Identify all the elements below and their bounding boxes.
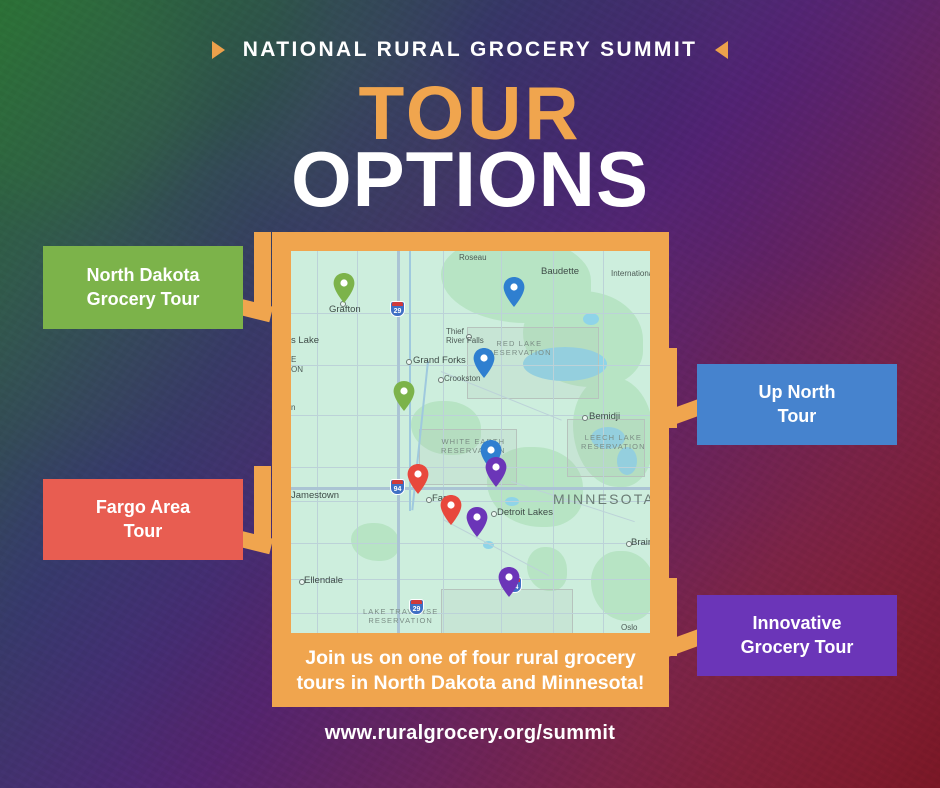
tour-label-fargo-area[interactable]: Fargo Area Tour — [43, 479, 243, 560]
map-label-jamestown: Jamestown — [291, 490, 339, 501]
map-pin-up-north-tour[interactable] — [503, 277, 525, 307]
map-pin-innovative-grocery-tour[interactable] — [466, 507, 488, 537]
map-label-leech-lake-reservation: LEECH LAKERESERVATION — [581, 433, 646, 451]
map-label-brainerd: Brainerd — [631, 537, 650, 548]
map-label-partial-left-c: n — [291, 403, 295, 412]
tour-label-innovative-text: Innovative Grocery Tour — [741, 612, 854, 660]
map-pin-up-north-tour[interactable] — [473, 348, 495, 378]
map-label-lake-traverse-reservation: LAKE TRAVERSERESERVATION — [363, 607, 438, 625]
triangle-left-icon — [715, 41, 728, 59]
map-label-grafton: Grafton — [329, 304, 361, 315]
map-label-devils-lake: s Lake — [291, 335, 319, 346]
map-label-detroit-lakes: Detroit Lakes — [497, 507, 553, 518]
map-city-dot — [406, 359, 412, 365]
caption-line1: Join us on one of four rural grocery — [305, 647, 635, 669]
tour-label-up-north[interactable]: Up North Tour — [697, 364, 897, 445]
tour-label-north-dakota-text: North Dakota Grocery Tour — [86, 264, 199, 312]
tour-label-line1: Innovative — [752, 613, 841, 633]
highway-shield-i94: 94 — [390, 479, 405, 495]
map-road — [291, 613, 650, 614]
map-label-oslo: Oslo — [621, 623, 637, 632]
website-url[interactable]: www.ruralgrocery.org/summit — [0, 722, 940, 745]
map-label-red-lake-reservation: RED LAKERESERVATION — [487, 339, 552, 357]
map-label-partial-left-b: ON — [291, 365, 303, 374]
map-label-bemidji: Bemidji — [589, 411, 620, 422]
tour-label-line1: North Dakota — [86, 265, 199, 285]
map-road — [291, 467, 650, 468]
map-label-state-minnesota: MINNESOTA — [553, 491, 650, 507]
map-label-ellendale: Ellendale — [304, 575, 343, 586]
eyebrow-banner: NATIONAL RURAL GROCERY SUMMIT — [0, 38, 940, 62]
tour-label-up-north-text: Up North Tour — [759, 381, 836, 429]
eyebrow-label: NATIONAL RURAL GROCERY SUMMIT — [243, 38, 698, 62]
tour-label-fargo-area-text: Fargo Area Tour — [96, 496, 190, 544]
map-pin-innovative-grocery-tour[interactable] — [498, 567, 520, 597]
triangle-right-icon — [212, 41, 225, 59]
map-road — [291, 543, 650, 544]
highway-shield-i29: 29 — [409, 599, 424, 615]
tour-label-line1: Fargo Area — [96, 497, 190, 517]
poster: NATIONAL RURAL GROCERY SUMMIT TOUR OPTIO… — [0, 0, 940, 788]
map-label-roseau: Roseau — [459, 253, 487, 262]
map-road — [553, 251, 554, 633]
caption-line2: tours in North Dakota and Minnesota! — [297, 672, 645, 694]
map-city-dot — [582, 415, 588, 421]
map-pin-north-dakota-tour[interactable] — [393, 381, 415, 411]
tour-label-line2: Tour — [124, 521, 163, 541]
tour-label-line2: Grocery Tour — [741, 637, 854, 657]
map-pin-north-dakota-tour[interactable] — [333, 273, 355, 303]
map-lake — [583, 313, 599, 325]
map-card-caption: Join us on one of four rural grocery tou… — [291, 646, 650, 696]
connector-left-upper-vertical — [254, 232, 271, 312]
tour-label-line2: Tour — [778, 406, 817, 426]
map-card: Grafton Grand Forks Crookston ThiefRiver… — [272, 232, 669, 707]
map-pin-innovative-grocery-tour[interactable] — [485, 457, 507, 487]
map-pin-fargo-area-tour[interactable] — [407, 464, 429, 494]
map-road — [291, 365, 650, 366]
tour-label-line2: Grocery Tour — [87, 289, 200, 309]
tour-label-north-dakota[interactable]: North Dakota Grocery Tour — [43, 246, 243, 329]
map-road — [291, 579, 650, 580]
map-label-grand-forks: Grand Forks — [413, 355, 466, 366]
map-label-baudette: Baudette — [541, 266, 579, 277]
tour-label-line1: Up North — [759, 382, 836, 402]
highway-shield-i29: 29 — [390, 301, 405, 317]
page-title-line2: OPTIONS — [0, 140, 940, 218]
connector-left-lower-vertical — [254, 466, 271, 544]
tour-label-innovative[interactable]: Innovative Grocery Tour — [697, 595, 897, 676]
map-label-partial-left-a: E — [291, 355, 296, 364]
map-label-international: International — [611, 269, 650, 278]
map-interstate-94 — [291, 487, 650, 490]
map-pin-fargo-area-tour[interactable] — [440, 495, 462, 525]
tour-map[interactable]: Grafton Grand Forks Crookston ThiefRiver… — [291, 251, 650, 633]
map-label-thief-river-falls: ThiefRiver Falls — [446, 327, 484, 345]
